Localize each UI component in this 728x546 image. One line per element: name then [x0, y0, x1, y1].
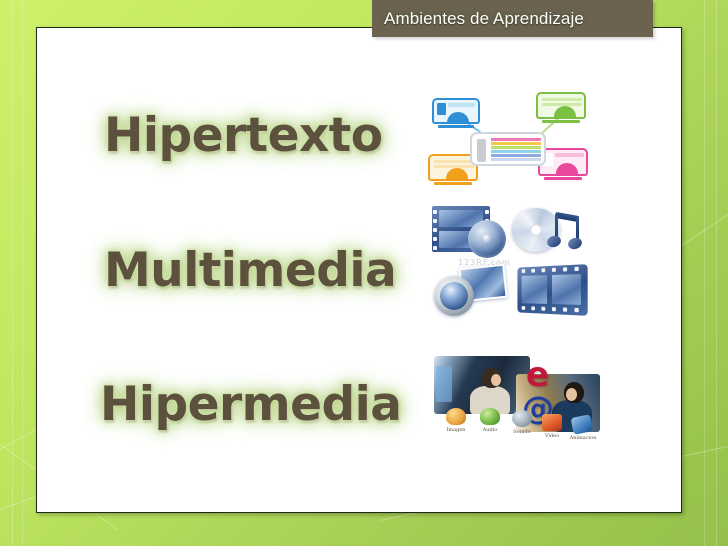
- hipermedia-icon-label: Animacion: [562, 435, 604, 441]
- reel-hub: [481, 233, 493, 245]
- film-perforation: [522, 306, 525, 310]
- decorative-line: [22, 0, 23, 546]
- heading-hipertexto: Hipertexto: [104, 112, 383, 159]
- hipermedia-icon-sonido: [512, 410, 532, 427]
- film-strip-icon: [517, 264, 587, 316]
- hipertexto-node-blue: [432, 98, 480, 124]
- node-tile: [437, 103, 446, 115]
- film-perforation: [531, 269, 535, 273]
- screen-glow: [436, 366, 452, 402]
- note-head: [546, 234, 563, 249]
- decorative-line: [716, 0, 717, 546]
- film-perforation: [574, 308, 578, 312]
- lens-glass: [440, 282, 468, 310]
- hub-stripe: [491, 158, 541, 161]
- film-perforation: [541, 268, 545, 272]
- node-base: [438, 125, 474, 128]
- film-perforation: [433, 219, 437, 223]
- hipermedia-icon-imagen: [446, 408, 466, 425]
- film-perforation: [552, 307, 556, 311]
- music-note-icon: [548, 214, 582, 254]
- hipermedia-icon-label: Imagen: [440, 427, 472, 433]
- hub-stripe: [491, 154, 541, 157]
- hub-stripe: [491, 138, 541, 141]
- hipermedia-illustration: e @ Imagen Audio Sonido Video Animacion: [430, 352, 602, 444]
- film-frame: [522, 275, 547, 304]
- film-perforation: [433, 237, 437, 241]
- node-tile: [542, 98, 582, 101]
- note-head: [567, 236, 584, 251]
- hipermedia-icon-label: Audio: [474, 427, 506, 433]
- hipermedia-icon-audio: [480, 408, 500, 425]
- film-reel-icon: [468, 220, 506, 258]
- node-base: [434, 182, 472, 185]
- film-perforation: [433, 246, 437, 250]
- node-base: [542, 120, 580, 123]
- decorative-line: [704, 0, 705, 546]
- film-perforation: [522, 269, 525, 273]
- hipermedia-icon-video: [542, 414, 562, 431]
- hipermedia-icon-label: Sonido: [506, 429, 538, 435]
- film-perforation: [563, 267, 567, 271]
- node-blob: [446, 168, 468, 181]
- camera-lens-icon: [434, 276, 474, 316]
- hipertexto-node-green: [536, 92, 586, 119]
- slide-title-text: Ambientes de Aprendizaje: [372, 9, 584, 29]
- cd-center-hole: [530, 224, 542, 236]
- decorative-line: [12, 0, 13, 546]
- node-tile: [448, 103, 475, 107]
- node-blob: [554, 106, 576, 119]
- node-tile: [555, 153, 584, 157]
- hub-stripe: [491, 146, 541, 149]
- film-perforation: [574, 267, 578, 271]
- person-face: [566, 388, 577, 401]
- hub-sidebar: [477, 139, 486, 162]
- node-tile: [434, 160, 474, 163]
- person-face: [491, 374, 501, 386]
- film-perforation: [563, 307, 567, 311]
- hub-stripe: [491, 150, 541, 153]
- heading-hipermedia: Hipermedia: [100, 381, 401, 428]
- slide-title-bar: Ambientes de Aprendizaje: [372, 0, 653, 37]
- node-blob: [556, 163, 578, 176]
- hub-stripe: [491, 142, 541, 145]
- film-perforation: [433, 210, 437, 214]
- slide-canvas: Ambientes de Aprendizaje Hipertexto Mult…: [0, 0, 728, 546]
- hipertexto-hub-node: [470, 132, 546, 166]
- film-frame: [552, 274, 581, 305]
- film-perforation: [552, 268, 556, 272]
- film-perforation: [541, 307, 545, 311]
- film-perforation: [531, 306, 535, 310]
- film-perforation: [485, 210, 489, 214]
- node-blob: [447, 112, 469, 124]
- node-base: [544, 177, 582, 180]
- heading-multimedia: Multimedia: [104, 247, 396, 294]
- film-perforation: [433, 228, 437, 232]
- hipertexto-illustration: [424, 88, 594, 192]
- letter-e-icon: e: [526, 358, 549, 392]
- multimedia-illustration: 123RF.com: [430, 200, 595, 325]
